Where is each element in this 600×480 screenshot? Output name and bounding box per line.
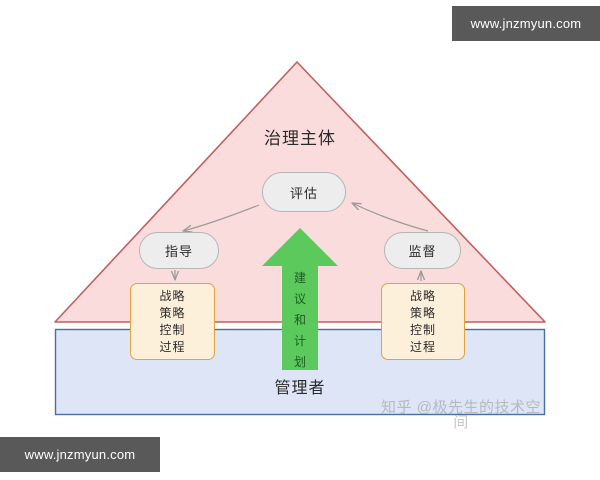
- watermark-badge-bottom-left: www.jnzmyun.com: [0, 437, 160, 472]
- diagram-canvas: 治理主体 管理者 评估 指导 监督 战略 策略 控制 过程 战略 策略 控制 过…: [0, 0, 600, 480]
- watermark-badge-top-right: www.jnzmyun.com: [452, 6, 600, 41]
- process-line-process: 过程: [159, 339, 185, 356]
- process-box-right[interactable]: 战略 策略 控制 过程: [381, 283, 465, 360]
- process-line-strategy: 战略: [159, 288, 185, 305]
- node-evaluate[interactable]: 评估: [262, 172, 346, 212]
- governance-title: 治理主体: [0, 130, 600, 147]
- advice-char-5: 划: [289, 352, 311, 373]
- node-direct[interactable]: 指导: [139, 232, 219, 269]
- advice-char-4: 计: [289, 331, 311, 352]
- process-line-policy: 策略: [410, 305, 436, 322]
- management-title: 管理者: [0, 381, 600, 397]
- process-line-control: 控制: [159, 322, 185, 339]
- advice-char-1: 建: [289, 268, 311, 289]
- process-line-policy: 策略: [159, 305, 185, 322]
- advice-and-plan-label: 建 议 和 计 划: [289, 268, 311, 373]
- process-line-process: 过程: [410, 339, 436, 356]
- process-box-left[interactable]: 战略 策略 控制 过程: [130, 283, 215, 360]
- advice-char-3: 和: [289, 310, 311, 331]
- process-line-strategy: 战略: [410, 288, 436, 305]
- process-line-control: 控制: [410, 322, 436, 339]
- zhihu-watermark: 知乎 @极先生的技术空间: [376, 400, 546, 430]
- node-monitor[interactable]: 监督: [384, 232, 461, 269]
- advice-char-2: 议: [289, 289, 311, 310]
